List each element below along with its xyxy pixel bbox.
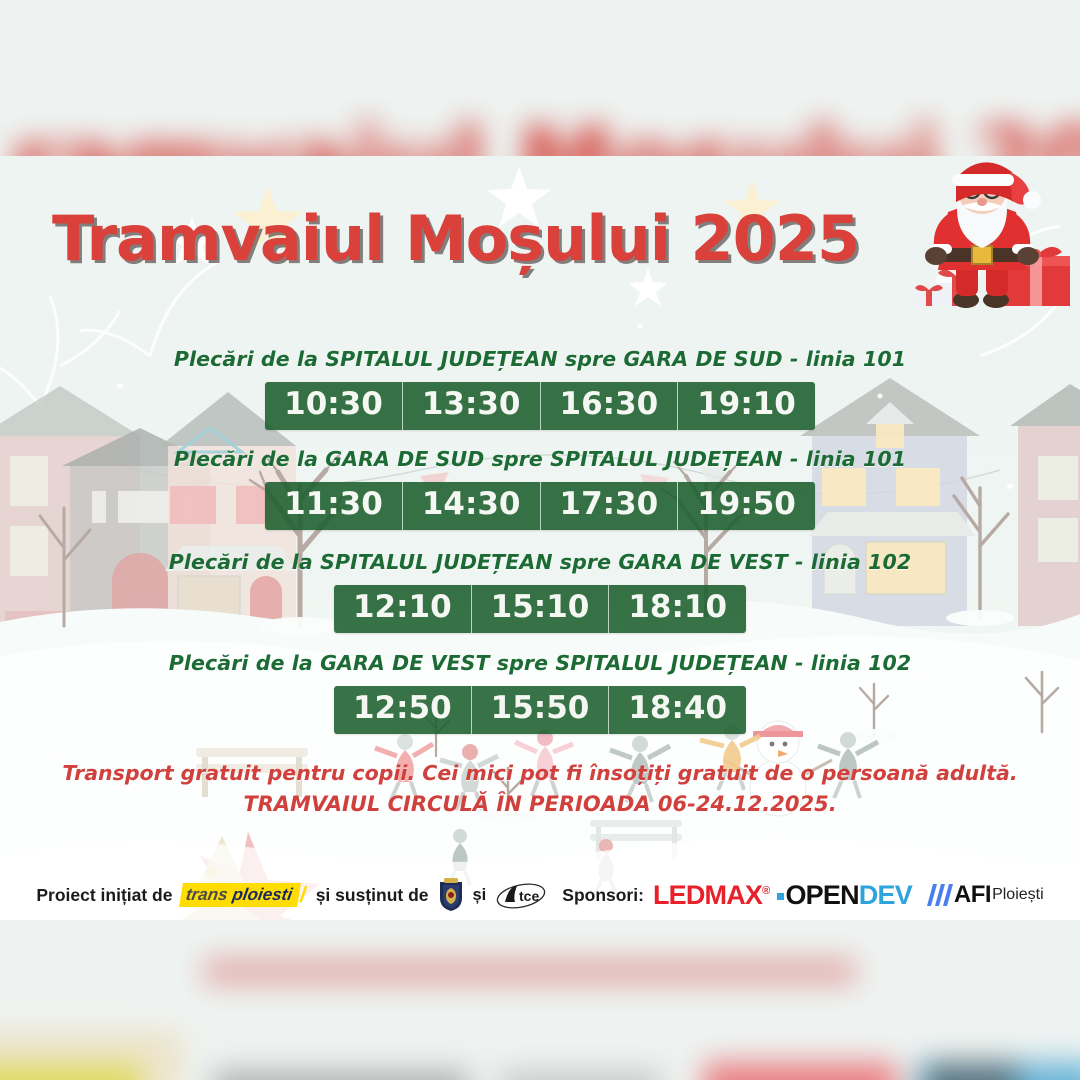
sponsors-label: Sponsori: — [562, 885, 644, 906]
poster-card: Tramvaiul Moșului 2025 — [0, 156, 1080, 920]
backdrop-blur-note — [203, 958, 856, 985]
schedule-times-3: 12:10 15:10 18:10 — [334, 585, 746, 633]
tce-logo[interactable]: tce — [495, 880, 547, 910]
time-cell[interactable]: 16:30 — [541, 382, 679, 430]
opendev-logo[interactable]: OPENDEV — [776, 880, 911, 911]
poster-stage: ramvaiul Moșului 2025 — [0, 0, 1080, 1080]
backdrop-blur-open — [926, 1062, 1018, 1080]
svg-text:tce: tce — [519, 888, 539, 904]
afi-mark-icon — [925, 882, 953, 908]
ledmax-logo[interactable]: LEDMAX® — [653, 880, 770, 911]
time-cell[interactable]: 12:50 — [334, 686, 472, 734]
schedule-row-2: Plecări de la GARA DE SUD spre SPITALUL … — [0, 447, 1080, 530]
schedule-label-1: Plecări de la SPITALUL JUDEȚEAN spre GAR… — [0, 347, 1080, 371]
sponsor-bar: Proiect inițiat de transploiesti/ și sus… — [0, 870, 1080, 920]
schedule-row-3: Plecări de la SPITALUL JUDEȚEAN spre GAR… — [0, 550, 1080, 633]
notes-block: Transport gratuit pentru copii. Cei mici… — [0, 761, 1080, 816]
backdrop-blur-transploiesti — [0, 1065, 142, 1080]
afi-ploiesti-logo[interactable]: AFIPloiești — [925, 881, 1044, 909]
schedule-label-2: Plecări de la GARA DE SUD spre SPITALUL … — [0, 447, 1080, 471]
backdrop-blur-ledmax — [703, 1062, 897, 1080]
opendev-square-icon — [777, 893, 784, 900]
supported-by-label: și susținut de — [316, 885, 429, 906]
afi-ploiesti-text: Ploiești — [992, 886, 1044, 904]
note-free-transport: Transport gratuit pentru copii. Cei mici… — [0, 761, 1080, 785]
transploiesti-trans: trans — [180, 883, 233, 907]
time-cell[interactable]: 12:10 — [334, 585, 472, 633]
opendev-dev-text: DEV — [859, 880, 912, 910]
schedule-row-1: Plecări de la SPITALUL JUDEȚEAN spre GAR… — [0, 347, 1080, 430]
schedule-times-2: 11:30 14:30 17:30 19:50 — [265, 482, 815, 530]
poster-content: Tramvaiul Moșului 2025 — [0, 156, 1080, 920]
note-operating-period: TRAMVAIUL CIRCULĂ ÎN PERIOADA 06-24.12.2… — [0, 792, 1080, 816]
ploiesti-coat-of-arms-icon — [438, 878, 464, 912]
time-cell[interactable]: 18:10 — [609, 585, 746, 633]
time-cell[interactable]: 17:30 — [541, 482, 679, 530]
transploiesti-logo[interactable]: transploiesti/ — [179, 882, 308, 908]
time-cell[interactable]: 15:10 — [472, 585, 610, 633]
transploiesti-ploiesti: ploiesti — [229, 883, 301, 907]
time-cell[interactable]: 13:30 — [403, 382, 541, 430]
time-cell[interactable]: 19:10 — [678, 382, 815, 430]
and-label: și — [473, 886, 487, 905]
schedule-label-3: Plecări de la SPITALUL JUDEȚEAN spre GAR… — [0, 550, 1080, 574]
santa-claus-illustration — [898, 156, 1074, 317]
schedule-label-4: Plecări de la GARA DE VEST spre SPITALUL… — [0, 651, 1080, 675]
schedule-row-4: Plecări de la GARA DE VEST spre SPITALUL… — [0, 651, 1080, 734]
backdrop-blur-text1 — [214, 1070, 469, 1080]
schedule-times-1: 10:30 13:30 16:30 19:10 — [265, 382, 815, 430]
ledmax-registered-mark: ® — [762, 885, 769, 897]
time-cell[interactable]: 10:30 — [265, 382, 403, 430]
afi-text: AFI — [954, 881, 991, 909]
time-cell[interactable]: 15:50 — [472, 686, 610, 734]
backdrop-blur-text2 — [499, 1070, 662, 1080]
opendev-open-text: OPEN — [785, 880, 858, 910]
initiated-by-label: Proiect inițiat de — [36, 885, 172, 906]
page-title: Tramvaiul Moșului 2025 — [52, 208, 912, 270]
ledmax-text: LEDMAX — [653, 880, 762, 910]
time-cell[interactable]: 14:30 — [403, 482, 541, 530]
time-cell[interactable]: 18:40 — [609, 686, 746, 734]
time-cell[interactable]: 19:50 — [678, 482, 815, 530]
time-cell[interactable]: 11:30 — [265, 482, 403, 530]
schedule-times-4: 12:50 15:50 18:40 — [334, 686, 746, 734]
